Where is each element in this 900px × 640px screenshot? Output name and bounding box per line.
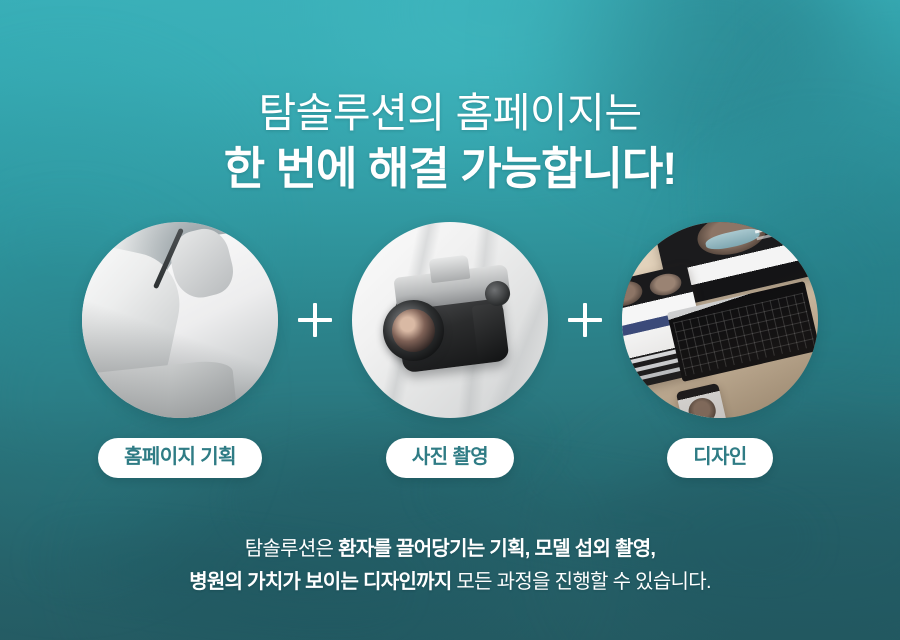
footer-line-1: 탐솔루션은 환자를 끌어당기는 기획, 모델 섭외 촬영, — [0, 533, 900, 565]
footer-line-1-light: 탐솔루션은 — [245, 538, 338, 560]
plus-icon — [568, 303, 602, 337]
banner-content: 탐솔루션의 홈페이지는 한 번에 해결 가능합니다! 홈페이지 기획 — [0, 0, 900, 640]
webdesign-photo — [622, 222, 818, 418]
step-planning: 홈페이지 기획 — [80, 222, 280, 478]
headline: 탐솔루션의 홈페이지는 한 번에 해결 가능합니다! — [0, 87, 900, 196]
headline-line-2: 한 번에 해결 가능합니다! — [0, 142, 900, 197]
step-photography: 사진 촬영 — [350, 222, 550, 478]
plus-icon — [298, 303, 332, 337]
camera-photo — [352, 222, 548, 418]
footer-line-1-strong: 환자를 끌어당기는 기획, 모델 섭외 촬영, — [338, 538, 655, 560]
footer-description: 탐솔루션은 환자를 끌어당기는 기획, 모델 섭외 촬영, 병원의 가치가 보이… — [0, 533, 900, 598]
step-label-planning: 홈페이지 기획 — [98, 438, 262, 478]
planning-photo — [82, 222, 278, 418]
footer-line-2-strong: 병원의 가치가 보이는 디자인까지 — [189, 571, 456, 593]
step-label-design: 디자인 — [667, 438, 772, 478]
plus-separator-2 — [550, 222, 620, 418]
step-design: 디자인 — [620, 222, 820, 478]
steps-row: 홈페이지 기획 사 — [0, 222, 900, 478]
step-label-photography: 사진 촬영 — [386, 438, 514, 478]
headline-line-1: 탐솔루션의 홈페이지는 — [0, 87, 900, 139]
footer-line-2-light: 모든 과정을 진행할 수 있습니다. — [456, 571, 710, 593]
footer-line-2: 병원의 가치가 보이는 디자인까지 모든 과정을 진행할 수 있습니다. — [0, 566, 900, 598]
promo-banner: 탐솔루션의 홈페이지는 한 번에 해결 가능합니다! 홈페이지 기획 — [0, 0, 900, 640]
plus-separator-1 — [280, 222, 350, 418]
